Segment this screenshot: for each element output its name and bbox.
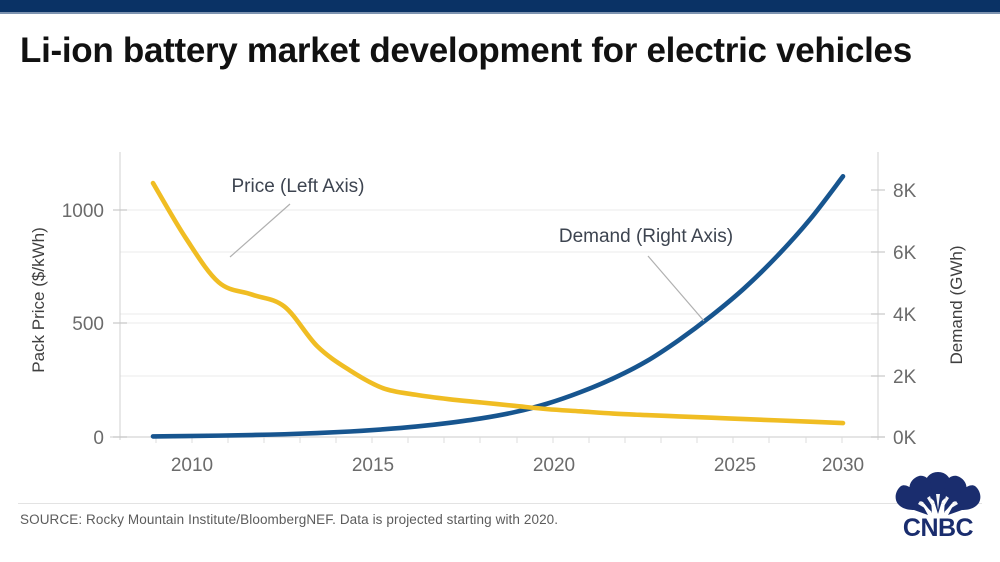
x-tick-label-2020: 2020: [533, 455, 575, 476]
cnbc-logo: CNBC: [886, 470, 990, 542]
right-tick-label-0K: 0K: [893, 428, 917, 449]
left-tick-label-1000: 1000: [62, 201, 104, 222]
demand-series-label: Demand (Right Axis): [559, 226, 733, 247]
chart-container: 1000 500 0 8K 6K 4K 2K 0K: [0, 140, 1000, 500]
top-accent-bar: [0, 0, 1000, 12]
price-annotation-leader: [230, 204, 290, 257]
x-axis-labels: 2010 2015 2020 2025 2030: [171, 455, 864, 476]
series-line-demand: [153, 176, 843, 436]
top-accent-underline: [0, 12, 1000, 14]
left-axis-title: Pack Price ($/kWh): [29, 227, 48, 372]
right-tick-label-8K: 8K: [893, 181, 917, 202]
axis-spines: [110, 152, 885, 440]
demand-annotation-leader: [648, 256, 704, 321]
x-tick-label-2015: 2015: [352, 455, 394, 476]
x-tick-label-2030: 2030: [822, 455, 864, 476]
x-tick-label-2010: 2010: [171, 455, 213, 476]
right-tick-label-6K: 6K: [893, 243, 917, 264]
left-axis-ticks: 1000 500 0: [62, 201, 127, 449]
cnbc-wordmark: CNBC: [886, 514, 990, 543]
price-series-label: Price (Left Axis): [231, 176, 364, 197]
source-note: SOURCE: Rocky Mountain Institute/Bloombe…: [20, 512, 558, 527]
left-tick-label-0: 0: [93, 428, 104, 449]
x-tick-label-2025: 2025: [714, 455, 756, 476]
page-title: Li-ion battery market development for el…: [20, 26, 960, 75]
x-axis-minor-ticks: [156, 437, 842, 443]
dual-axis-line-chart: 1000 500 0 8K 6K 4K 2K 0K: [0, 140, 1000, 500]
left-tick-label-500: 500: [72, 314, 104, 335]
series-line-price: [153, 183, 843, 423]
footer-divider: [18, 503, 982, 504]
chart-page: Li-ion battery market development for el…: [0, 0, 1000, 562]
right-tick-label-4K: 4K: [893, 305, 917, 326]
right-axis-title: Demand (GWh): [947, 245, 966, 364]
right-tick-label-2K: 2K: [893, 367, 917, 388]
cnbc-peacock-icon: [886, 470, 990, 516]
